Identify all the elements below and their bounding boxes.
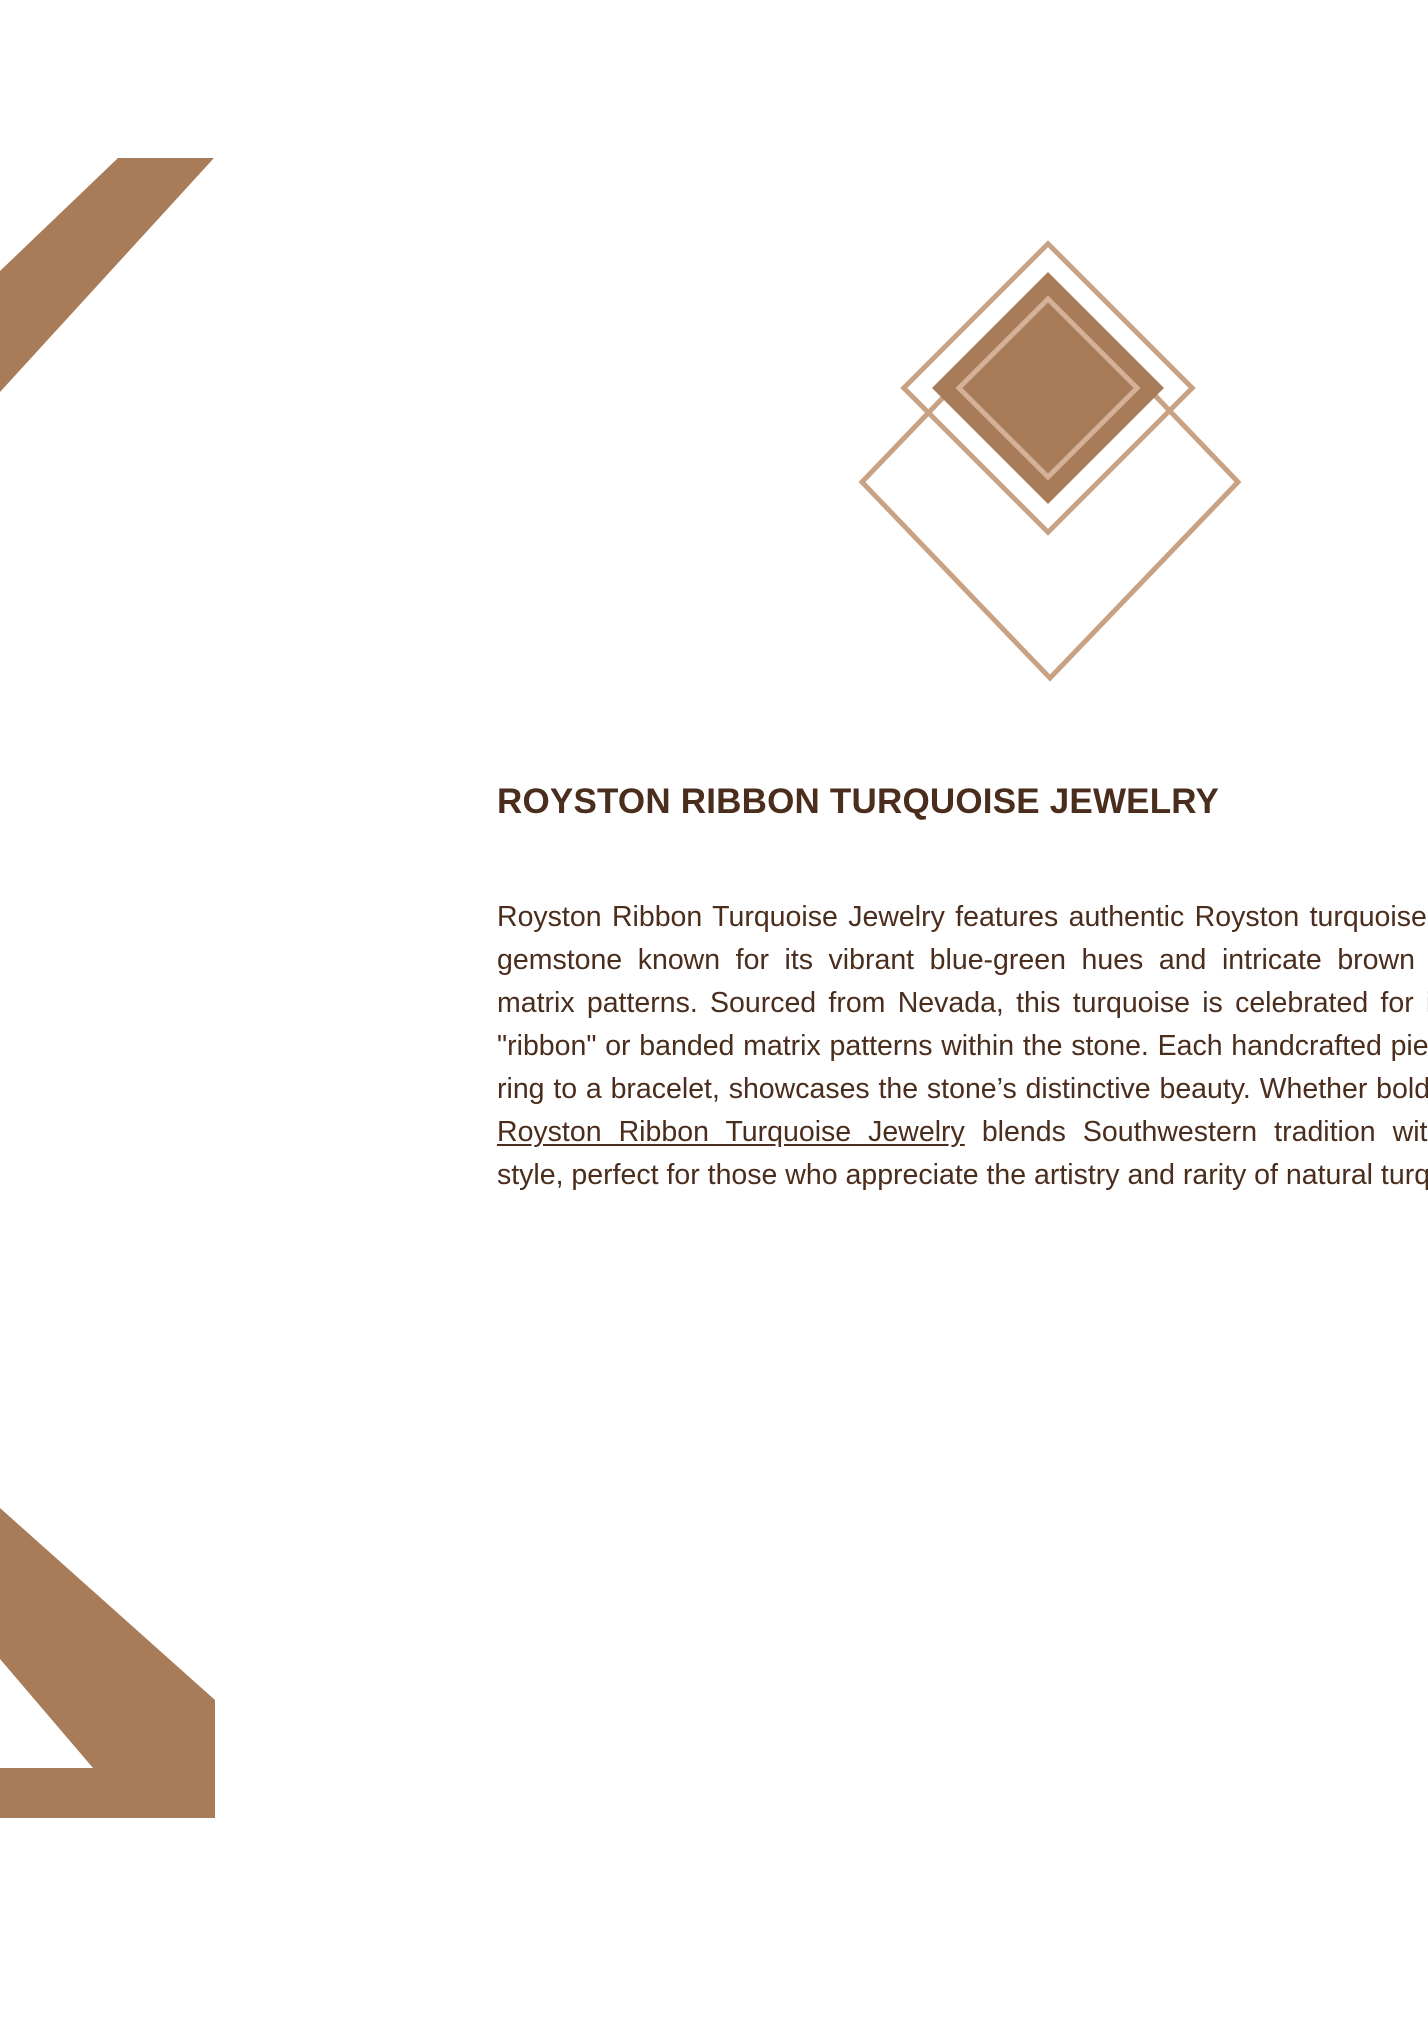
diamond-body <box>932 272 1164 504</box>
diamond-outer-ring <box>904 244 1192 532</box>
article-paragraph: Royston Ribbon Turquoise Jewelry feature… <box>497 824 1428 1197</box>
page-title: ROYSTON RIBBON TURQUOISE JEWELRY <box>497 780 1428 824</box>
royston-ribbon-turquoise-jewelry-link[interactable]: Royston Ribbon Turquoise Jewelry <box>497 1116 965 1148</box>
diamond-inner-ring <box>959 299 1137 477</box>
paragraph-text-before-link: Royston Ribbon Turquoise Jewelry feature… <box>497 901 1428 1105</box>
diagonal-stripe-top-left-icon <box>0 158 214 392</box>
layered-diamond-ornament-icon <box>862 286 1238 678</box>
diagonal-stripe-bottom-left-icon <box>0 1508 215 1818</box>
document-page: ROYSTON RIBBON TURQUOISE JEWELRY Royston… <box>0 0 1428 2018</box>
article-content: ROYSTON RIBBON TURQUOISE JEWELRY Royston… <box>497 780 1428 1197</box>
diamond-outer-outline <box>862 286 1238 678</box>
